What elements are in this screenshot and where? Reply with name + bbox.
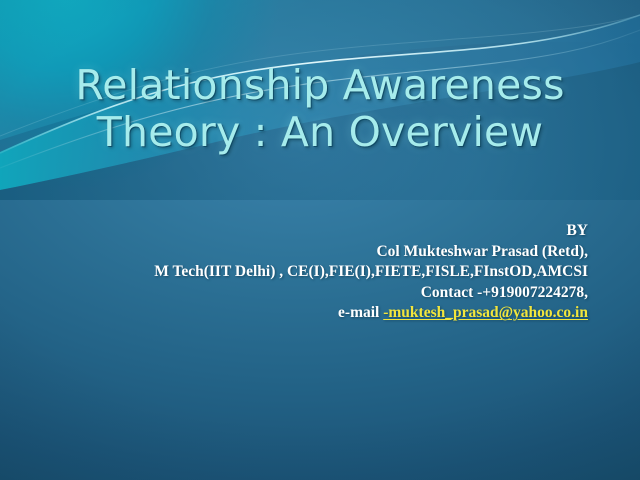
contact-phone: Contact -+919007224278, (68, 283, 588, 304)
email-link[interactable]: -muktesh_prasad@yahoo.co.in (383, 304, 588, 321)
author-name: Col Mukteshwar Prasad (Retd), (68, 242, 588, 263)
by-label: BY (68, 221, 588, 242)
author-qualifications: M Tech(IIT Delhi) , CE(I),FIE(I),FIETE,F… (68, 262, 588, 283)
title-line-1: Relationship Awareness (0, 62, 640, 109)
title-line-2: Theory : An Overview (0, 109, 640, 156)
author-contact-block: BY Col Mukteshwar Prasad (Retd), M Tech(… (68, 221, 588, 324)
slide-title: Relationship Awareness Theory : An Overv… (0, 62, 640, 155)
email-line: e-mail -muktesh_prasad@yahoo.co.in (68, 303, 588, 324)
presentation-title-slide: Relationship Awareness Theory : An Overv… (0, 0, 640, 480)
email-label: e-mail (338, 304, 383, 321)
